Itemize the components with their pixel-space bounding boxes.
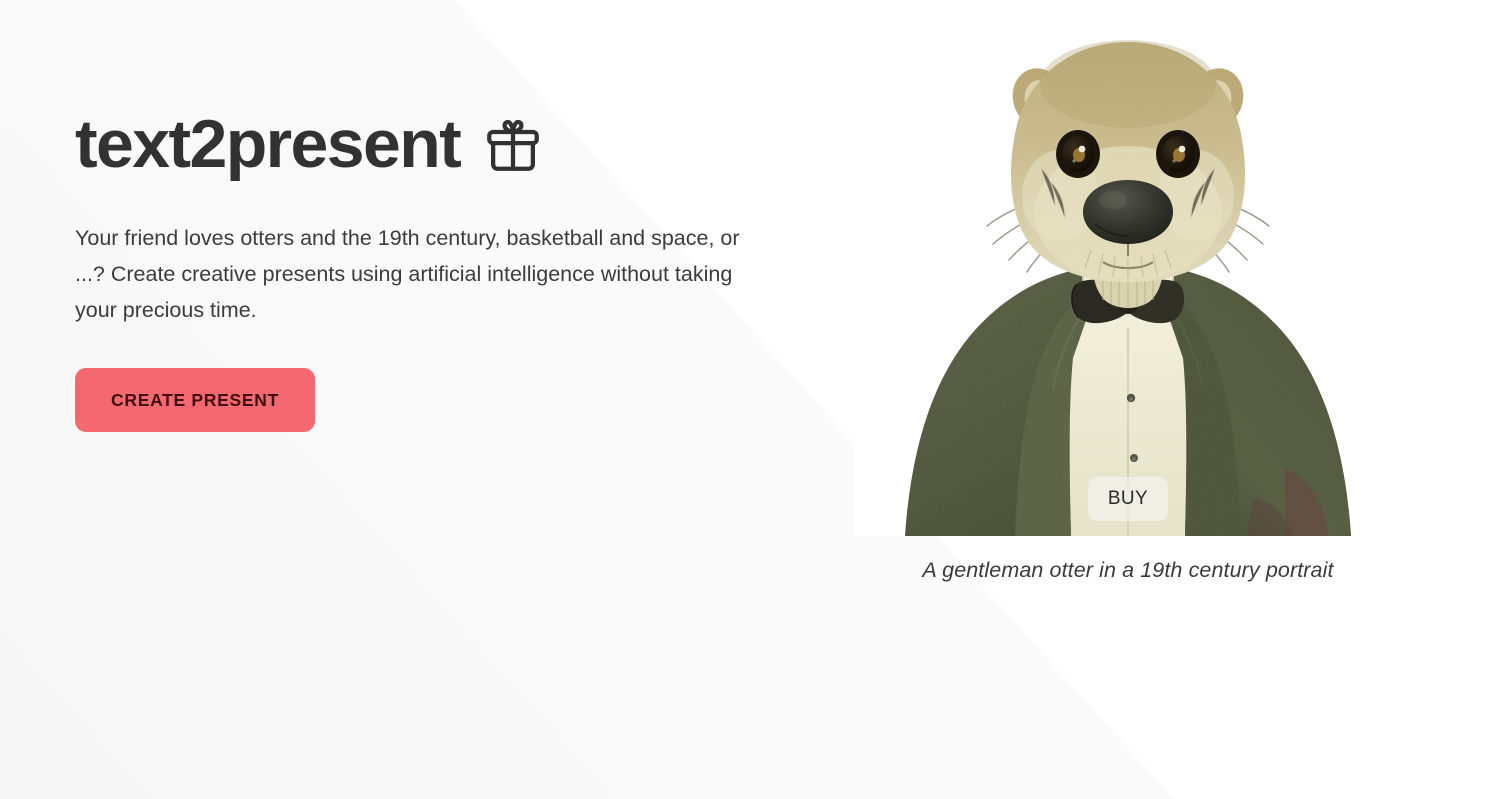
hero-description: Your friend loves otters and the 19th ce… <box>75 220 765 328</box>
gentleman-otter-image <box>855 28 1401 536</box>
gift-icon <box>482 115 544 177</box>
landing-page: text2present Your friend loves otters an… <box>0 0 1501 799</box>
present-caption: A gentleman otter in a 19th century port… <box>855 558 1401 583</box>
present-image-container: BUY <box>855 28 1401 536</box>
page-title-text: text2present <box>75 110 460 178</box>
create-present-button[interactable]: CREATE PRESENT <box>75 368 315 432</box>
buy-button[interactable]: BUY <box>1088 477 1168 521</box>
hero-section: text2present Your friend loves otters an… <box>75 110 775 432</box>
present-card: BUY A gentleman otter in a 19th century … <box>855 28 1401 583</box>
page-title: text2present <box>75 110 775 178</box>
